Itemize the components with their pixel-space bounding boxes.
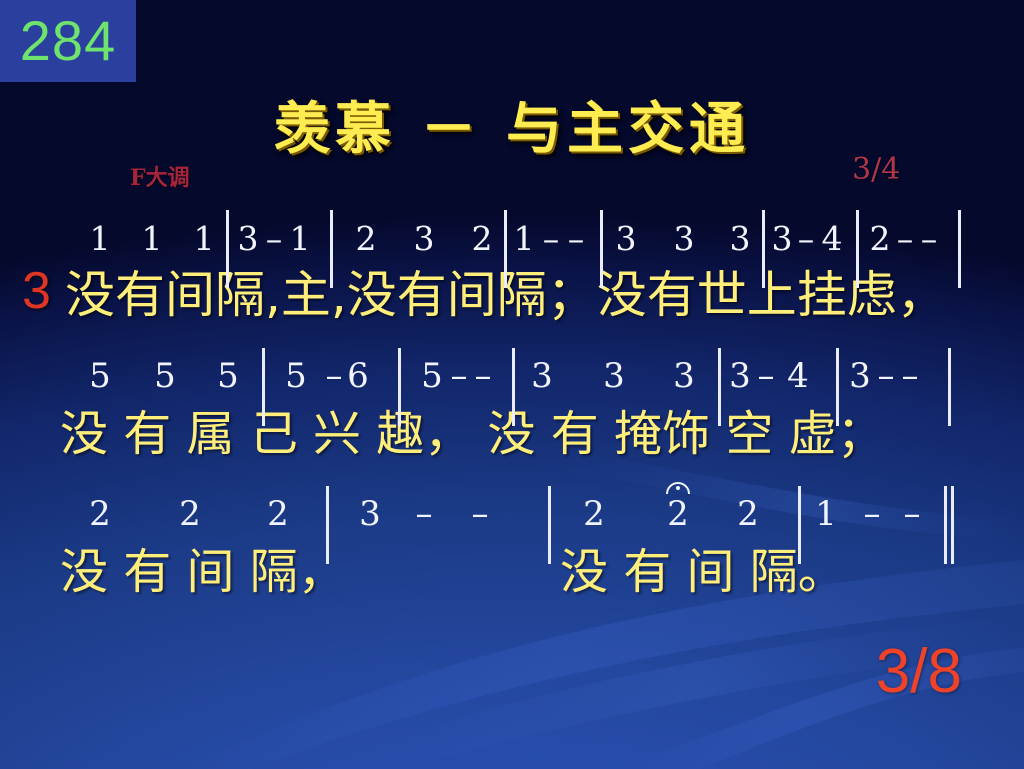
note-glyph: 3 xyxy=(673,356,695,396)
barline xyxy=(948,348,951,426)
note-glyph: 2 xyxy=(870,219,891,258)
note-glyph: – xyxy=(798,219,815,258)
fermata-icon xyxy=(665,478,691,500)
note-glyph: 3 xyxy=(849,356,871,396)
note-glyph: – xyxy=(451,356,468,396)
note-glyph: – xyxy=(416,494,433,534)
barline xyxy=(330,210,333,288)
barline xyxy=(512,348,515,426)
note-glyph: 5 xyxy=(421,356,443,396)
barline xyxy=(600,210,603,288)
music-system-1: 1113–12321––3333–42–– 3 没有间隔,主,没有间隔；没有世上… xyxy=(0,206,1024,324)
barline xyxy=(798,486,801,564)
lyric-text: 没 有 间 隔， xyxy=(60,532,346,602)
barline xyxy=(504,210,507,288)
note-glyph: 4 xyxy=(822,219,843,258)
barline xyxy=(958,210,961,288)
note-glyph: 3 xyxy=(772,219,793,258)
note-glyph: 5 xyxy=(89,356,111,396)
slide-number: 284 xyxy=(20,13,116,69)
note-glyph: – xyxy=(266,219,283,258)
barline xyxy=(326,486,329,564)
note-glyph: – xyxy=(543,219,560,258)
barline xyxy=(398,348,401,426)
note-glyph: 2 xyxy=(356,219,377,258)
note-glyph: 2 xyxy=(267,494,289,534)
note-glyph: 2 xyxy=(583,494,605,534)
notation-row-3: 2223––2221–– xyxy=(0,482,1024,534)
slide-number-box: 284 xyxy=(0,0,136,82)
barline xyxy=(718,348,721,426)
note-glyph: 2 xyxy=(89,494,111,534)
verse-number: 3 xyxy=(22,261,51,321)
note-glyph: – xyxy=(475,356,492,396)
note-glyph: 2 xyxy=(667,494,689,534)
note-glyph: 1 xyxy=(142,219,163,258)
barline xyxy=(836,348,839,426)
note-glyph: – xyxy=(904,494,921,534)
music-system-2: 5555–65––3333–43–– 没 有 属 己 兴 趣， 没 有 掩饰 空… xyxy=(0,344,1024,462)
note-glyph: 1 xyxy=(194,219,215,258)
barline xyxy=(762,210,765,288)
note-glyph: 5 xyxy=(217,356,239,396)
note-glyph: 1 xyxy=(514,219,535,258)
music-system-3: 2223––2221–– 没 有 间 隔，没 有 间 隔。 xyxy=(0,482,1024,600)
barline xyxy=(548,486,551,564)
barline xyxy=(262,348,265,426)
note-glyph: 4 xyxy=(787,356,809,396)
lyric-row-3: 没 有 间 隔，没 有 间 隔。 xyxy=(0,534,1024,600)
note-glyph: 5 xyxy=(285,356,307,396)
lyric-text: 没 有 属 己 兴 趣， 没 有 掩饰 空 虚； xyxy=(60,394,885,464)
key-signature: F大调 xyxy=(130,160,190,192)
note-glyph: 5 xyxy=(154,356,176,396)
note-glyph: 6 xyxy=(347,356,369,396)
note-glyph: 3 xyxy=(359,494,381,534)
note-glyph: 1 xyxy=(290,219,311,258)
slide-canvas: 284 羡慕 － 与主交通 F大调 3/4 1113–12321––3333–4… xyxy=(0,0,1024,769)
note-glyph: – xyxy=(897,219,914,258)
note-glyph: 3 xyxy=(616,219,637,258)
time-signature: 3/4 xyxy=(852,152,900,187)
barline xyxy=(856,210,859,288)
page-marker: 3/8 xyxy=(876,636,962,707)
note-glyph: 2 xyxy=(737,494,759,534)
note-glyph: 3 xyxy=(729,356,751,396)
lyric-text: 没 有 间 隔。 xyxy=(560,532,846,602)
note-glyph: – xyxy=(326,356,343,396)
notation-row-1: 1113–12321––3333–42–– xyxy=(0,206,1024,258)
lyric-row-1: 3 没有间隔,主,没有间隔；没有世上挂虑， xyxy=(0,258,1024,324)
note-glyph: 2 xyxy=(179,494,201,534)
note-glyph: – xyxy=(864,494,881,534)
note-glyph: 1 xyxy=(815,494,837,534)
note-glyph: – xyxy=(472,494,489,534)
note-glyph: 3 xyxy=(730,219,751,258)
note-glyph: 1 xyxy=(90,219,111,258)
note-glyph: 3 xyxy=(531,356,553,396)
note-glyph: – xyxy=(758,356,775,396)
note-glyph: 3 xyxy=(603,356,625,396)
note-glyph: 3 xyxy=(674,219,695,258)
note-glyph: – xyxy=(902,356,919,396)
note-glyph: – xyxy=(921,219,938,258)
double-barline xyxy=(944,486,947,564)
note-glyph: 3 xyxy=(238,219,259,258)
note-glyph: 2 xyxy=(472,219,493,258)
note-glyph: 3 xyxy=(414,219,435,258)
barline xyxy=(226,210,229,288)
note-glyph: – xyxy=(878,356,895,396)
note-glyph: – xyxy=(568,219,585,258)
